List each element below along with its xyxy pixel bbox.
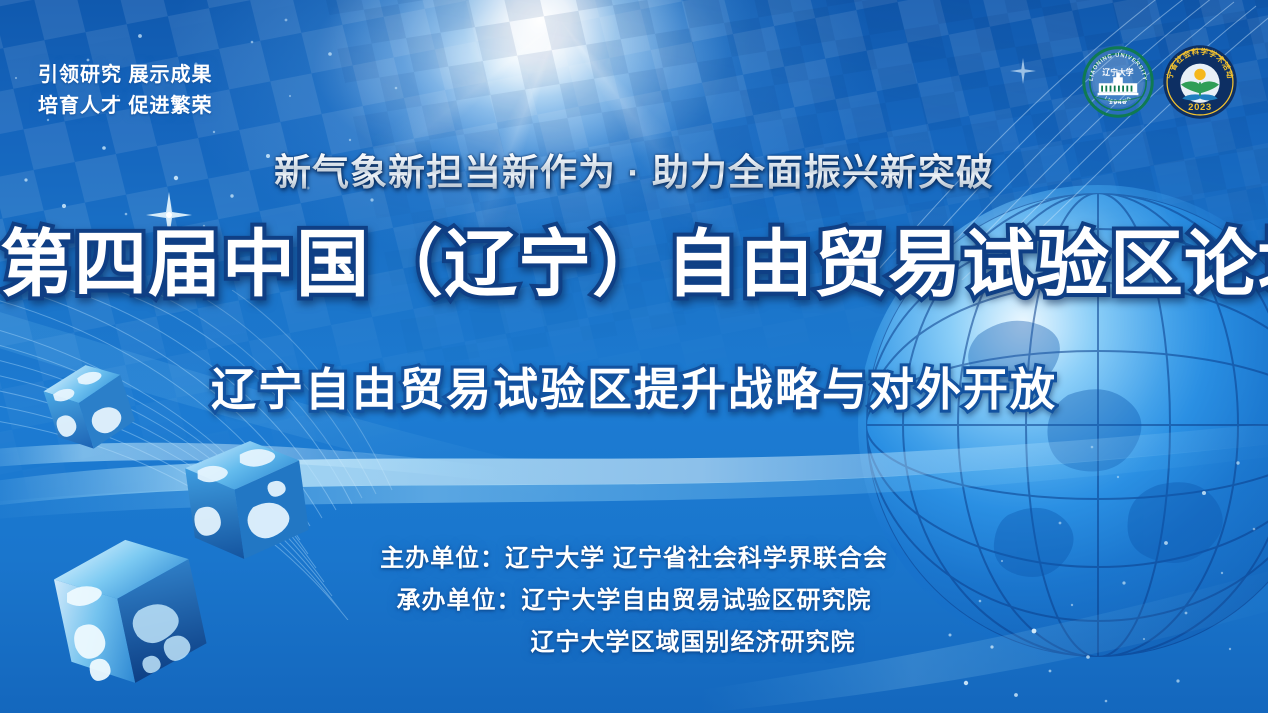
liaoning-university-seal-logo: LIAONING UNIVERSITY LIAONING 辽宁大学 1948 xyxy=(1082,46,1154,118)
subtitle-text: 辽宁自由贸易试验区提升战略与对外开放 xyxy=(0,367,1268,412)
svg-text:2023: 2023 xyxy=(1188,102,1212,113)
logo-group: LIAONING UNIVERSITY LIAONING 辽宁大学 1948 xyxy=(1082,44,1238,120)
organizer-undertaker-line: 承办单位：辽宁大学自由贸易试验区研究院 xyxy=(0,580,1268,622)
slogan-block: 引领研究 展示成果 培育人才 促进繁荣 xyxy=(38,60,213,122)
slogan-line-1: 引领研究 展示成果 xyxy=(38,60,213,91)
main-title-text: 第四届中国（辽宁）自由贸易试验区论坛 xyxy=(0,228,1268,301)
organizer-undertaker-line-2: 辽宁大学区域国别经济研究院 xyxy=(0,622,1268,664)
slogan-line-2: 培育人才 促进繁荣 xyxy=(38,91,213,122)
conference-banner: 引领研究 展示成果 培育人才 促进繁荣 新气象新担当新作为 · 助力全面振兴新突… xyxy=(0,0,1268,713)
tagline: 新气象新担当新作为 · 助力全面振兴新突破 xyxy=(0,142,1268,196)
sparkle-star-small-icon xyxy=(1010,58,1036,84)
organizer-host-line: 主办单位：辽宁大学 辽宁省社会科学界联合会 xyxy=(0,538,1268,580)
subtitle: 辽宁自由贸易试验区提升战略与对外开放 辽宁自由贸易试验区提升战略与对外开放 xyxy=(0,367,1268,412)
academic-month-emblem-logo: 辽宁省社会科学学术活动月 2023 xyxy=(1162,44,1238,120)
particle-field-left xyxy=(0,0,420,250)
main-title: 第四届中国（辽宁）自由贸易试验区论坛 第四届中国（辽宁）自由贸易试验区论坛 xyxy=(0,228,1268,301)
organizers-block: 主办单位：辽宁大学 辽宁省社会科学界联合会 承办单位：辽宁大学自由贸易试验区研究… xyxy=(0,538,1268,664)
